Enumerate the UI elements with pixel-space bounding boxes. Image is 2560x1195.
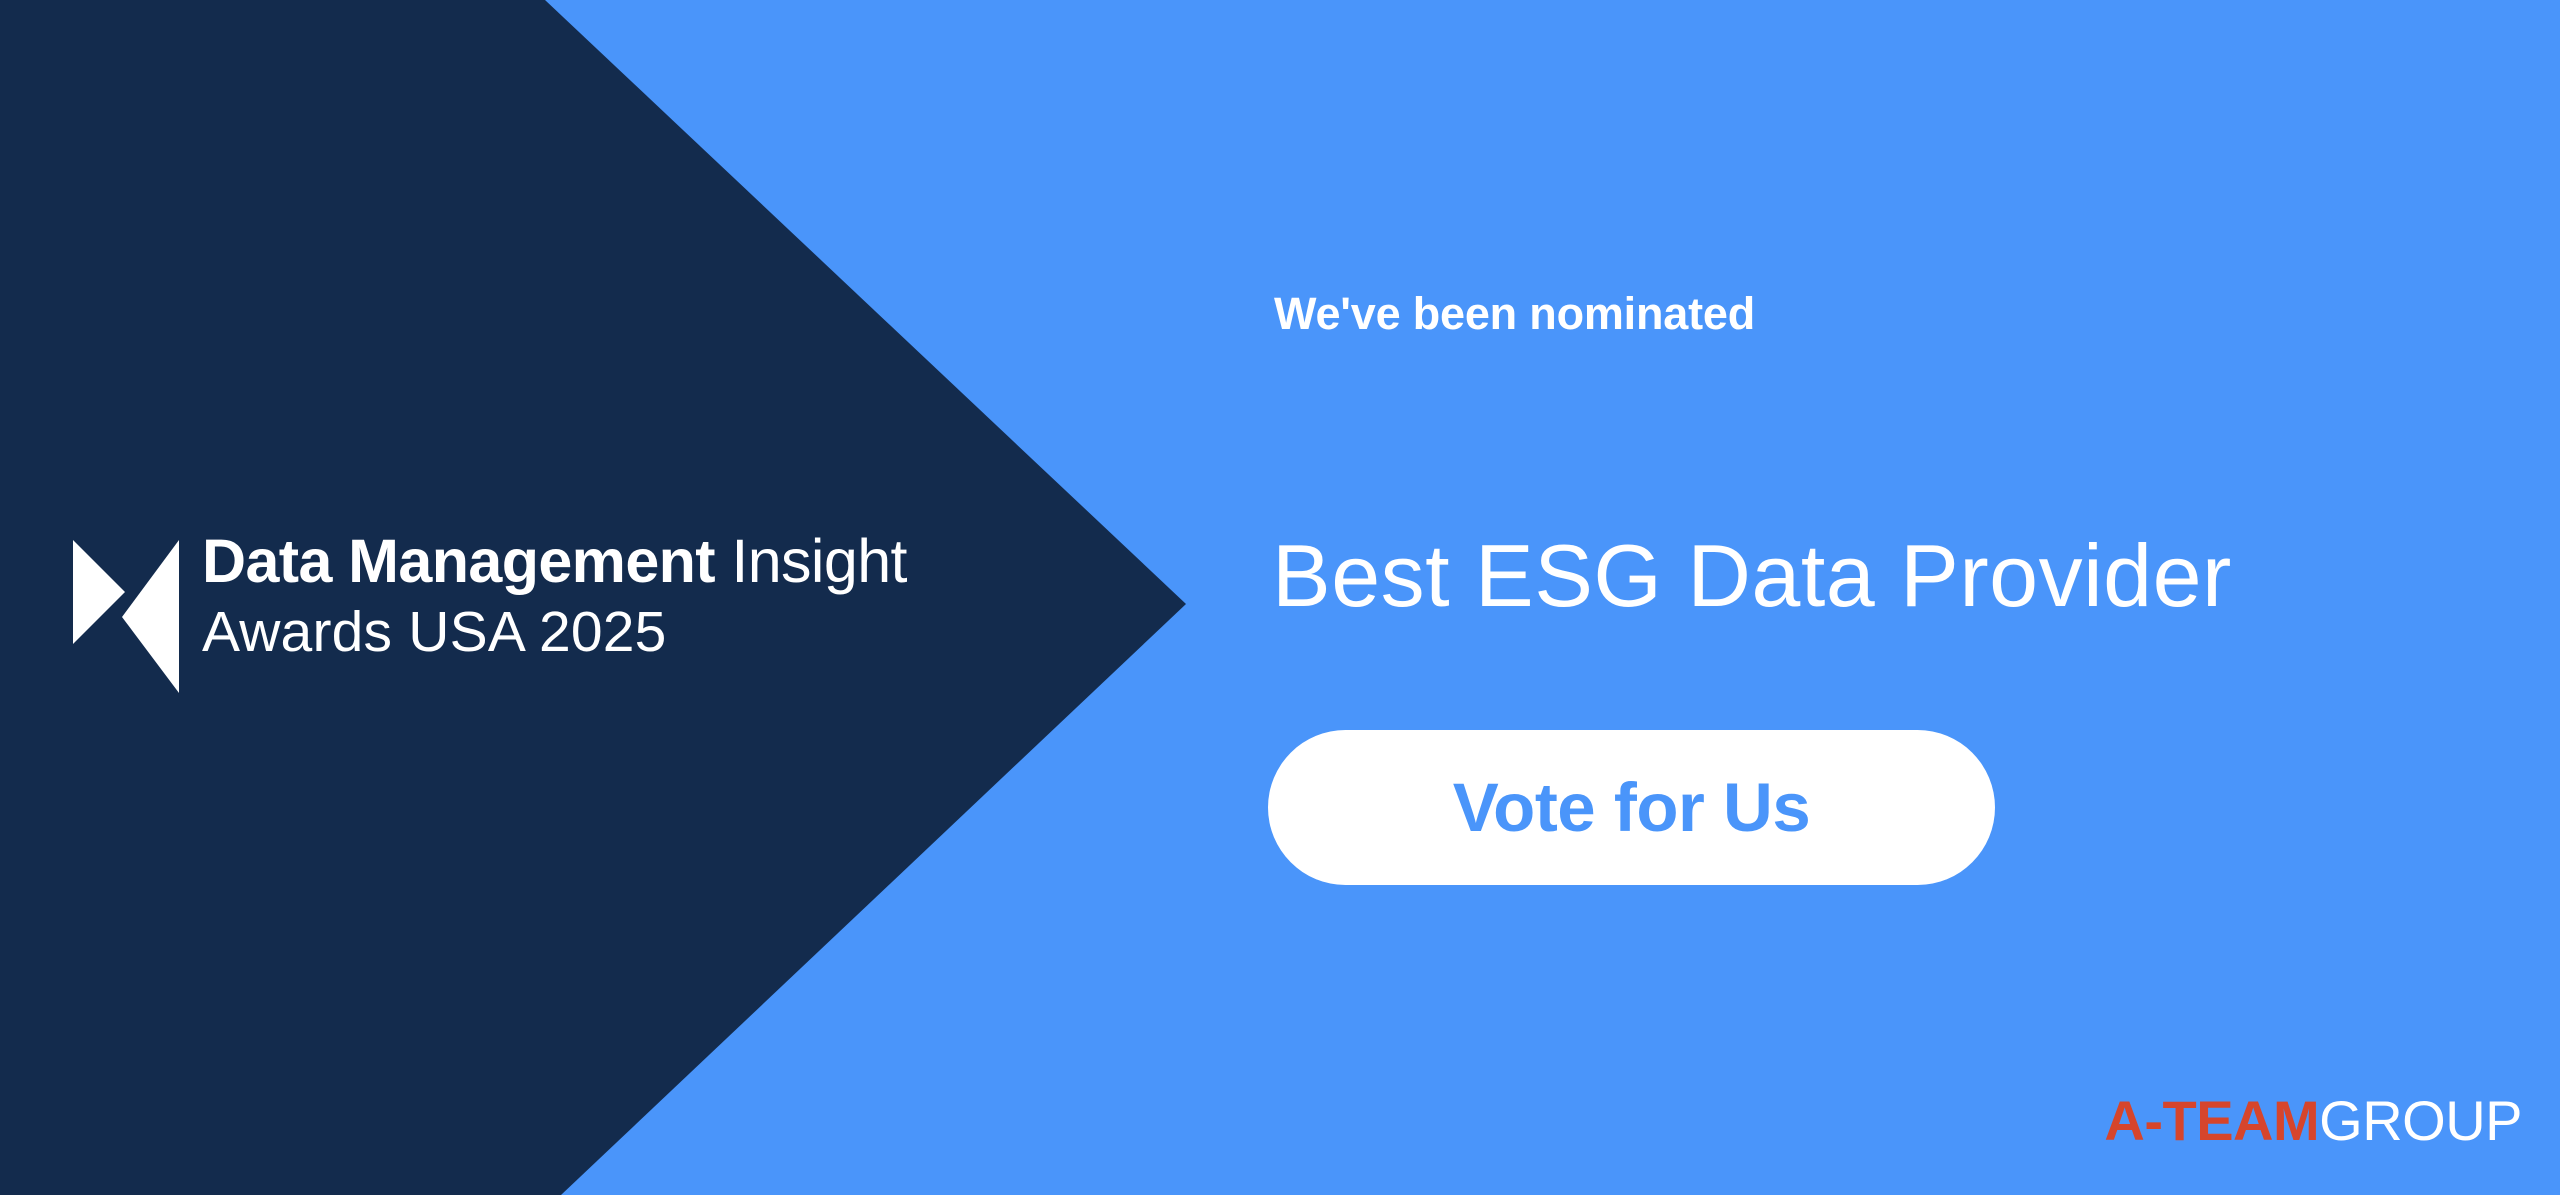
- awards-title-line: Data Management Insight: [202, 524, 907, 598]
- awards-logo-lockup: Data Management Insight Awards USA 2025: [72, 524, 907, 694]
- awards-title-light: Insight: [715, 527, 907, 595]
- a-team-group-logo: A-TEAMGROUP: [2104, 1093, 2522, 1149]
- nomination-eyebrow: We've been nominated: [1274, 288, 1755, 340]
- a-team-group-logo-accent: A-TEAM: [2104, 1089, 2319, 1152]
- award-category-title: Best ESG Data Provider: [1272, 525, 2232, 627]
- awards-nomination-banner: Data Management Insight Awards USA 2025 …: [0, 0, 2560, 1195]
- a-team-group-logo-plain: GROUP: [2319, 1089, 2522, 1152]
- awards-logo-text: Data Management Insight Awards USA 2025: [202, 524, 907, 666]
- data-management-insight-mark-icon: [72, 530, 180, 694]
- awards-title-bold: Data Management: [202, 527, 715, 595]
- vote-button-label: Vote for Us: [1453, 773, 1810, 842]
- vote-for-us-button[interactable]: Vote for Us: [1268, 730, 1995, 885]
- awards-subtitle: Awards USA 2025: [202, 598, 907, 666]
